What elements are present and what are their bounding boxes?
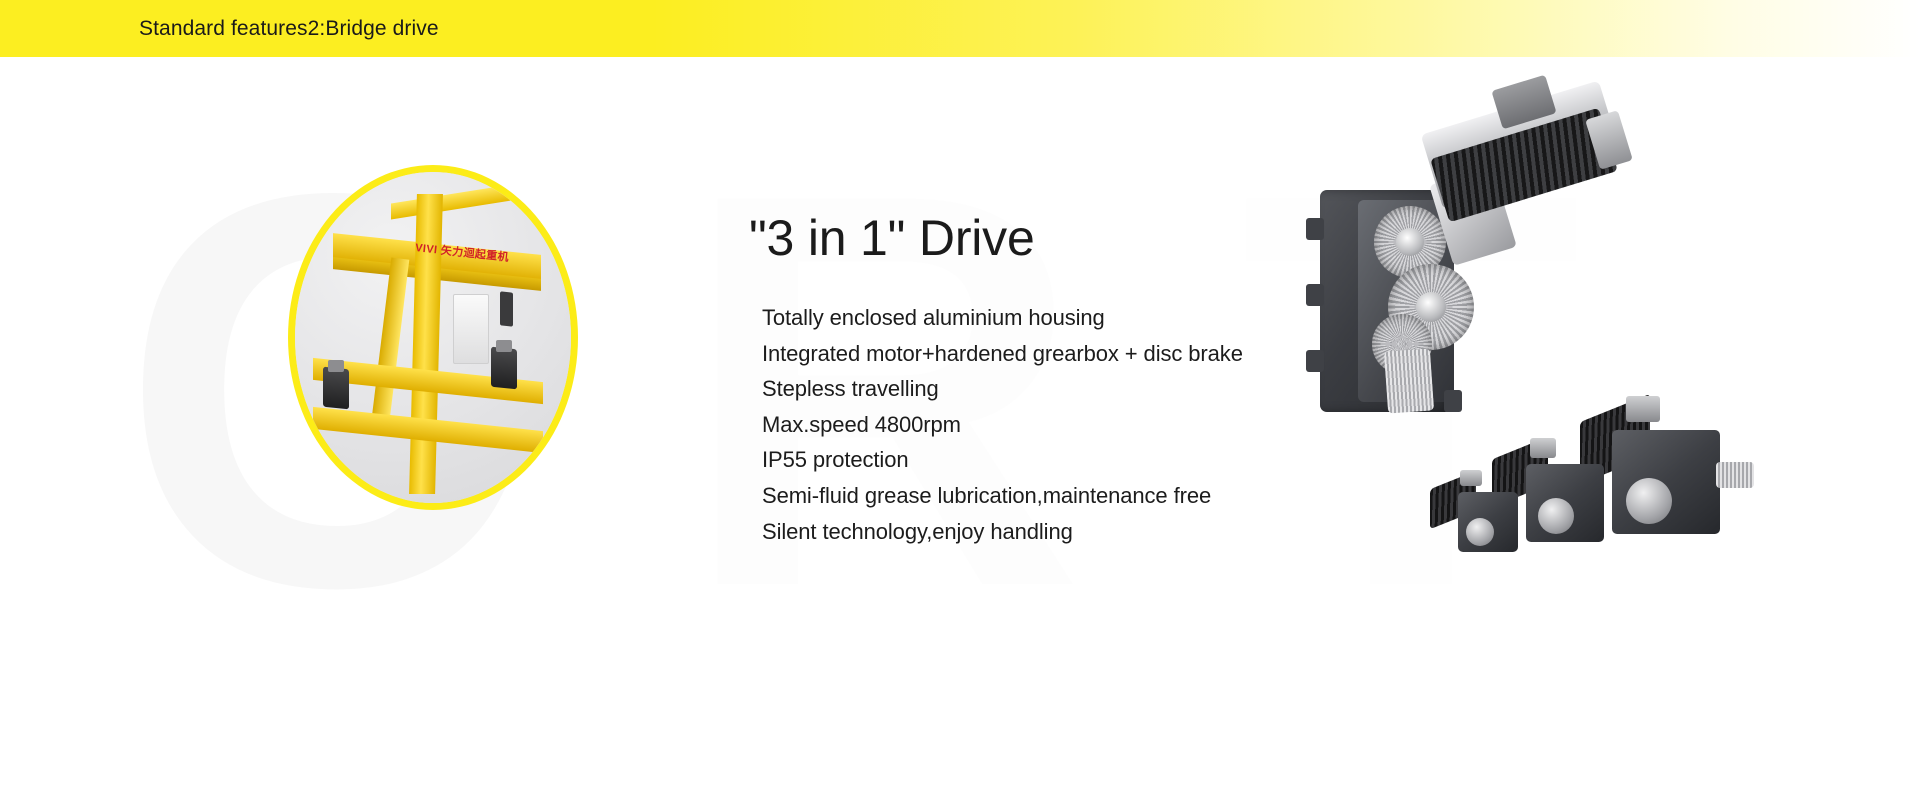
list-item: Totally enclosed aluminium housing [762, 300, 1382, 336]
list-item: Max.speed 4800rpm [762, 407, 1382, 443]
list-item: IP55 protection [762, 442, 1382, 478]
output-shaft [1716, 462, 1754, 488]
gearbox-housing [1612, 430, 1720, 534]
crane-pendant-block [500, 291, 513, 326]
slide-root: C R T Standard features2:Bridge drive VI… [0, 0, 1920, 800]
crane-photo-circle: VIVI 矢力迴起重机 [288, 165, 578, 510]
list-item: Semi-fluid grease lubrication,maintenanc… [762, 478, 1382, 514]
motor-terminal-box [1460, 470, 1482, 486]
crane-top-arm [391, 184, 511, 219]
crane-drive-motor-right [491, 347, 517, 390]
page-title: "3 in 1" Drive [749, 210, 1035, 266]
output-flange-disc [1626, 478, 1672, 524]
crane-drive-motor-left-cap [328, 360, 344, 372]
motor-terminal-box [1530, 438, 1556, 458]
motor-group-illustration [1430, 400, 1750, 620]
gearbox-illustration [1300, 78, 1700, 428]
motor-terminal-box [1626, 396, 1660, 422]
list-item: Stepless travelling [762, 371, 1382, 407]
gearbox-mount-lug [1306, 350, 1324, 372]
output-flange-disc [1538, 498, 1574, 534]
list-item: Silent technology,enjoy handling [762, 514, 1382, 550]
gearbox-mount-lug [1306, 218, 1324, 240]
output-flange-disc [1466, 518, 1494, 546]
list-item: Integrated motor+hardened grearbox + dis… [762, 336, 1382, 372]
gearbox-mount-lug [1306, 284, 1324, 306]
crane-drive-motor-right-cap [496, 340, 512, 352]
crane-diagonal-brace [371, 258, 410, 429]
header-title: Standard features2:Bridge drive [139, 17, 439, 41]
feature-list: Totally enclosed aluminium housing Integ… [762, 300, 1382, 549]
gearbox-bearing-hub [1416, 292, 1446, 322]
gearbox-bearing-hub [1396, 228, 1424, 256]
crane-drive-motor-left [323, 367, 349, 410]
crane-photo-image: VIVI 矢力迴起重机 [295, 172, 571, 503]
crane-main-column [409, 194, 443, 494]
crane-control-box [453, 294, 489, 364]
gearbox-output-shaft [1384, 348, 1434, 413]
